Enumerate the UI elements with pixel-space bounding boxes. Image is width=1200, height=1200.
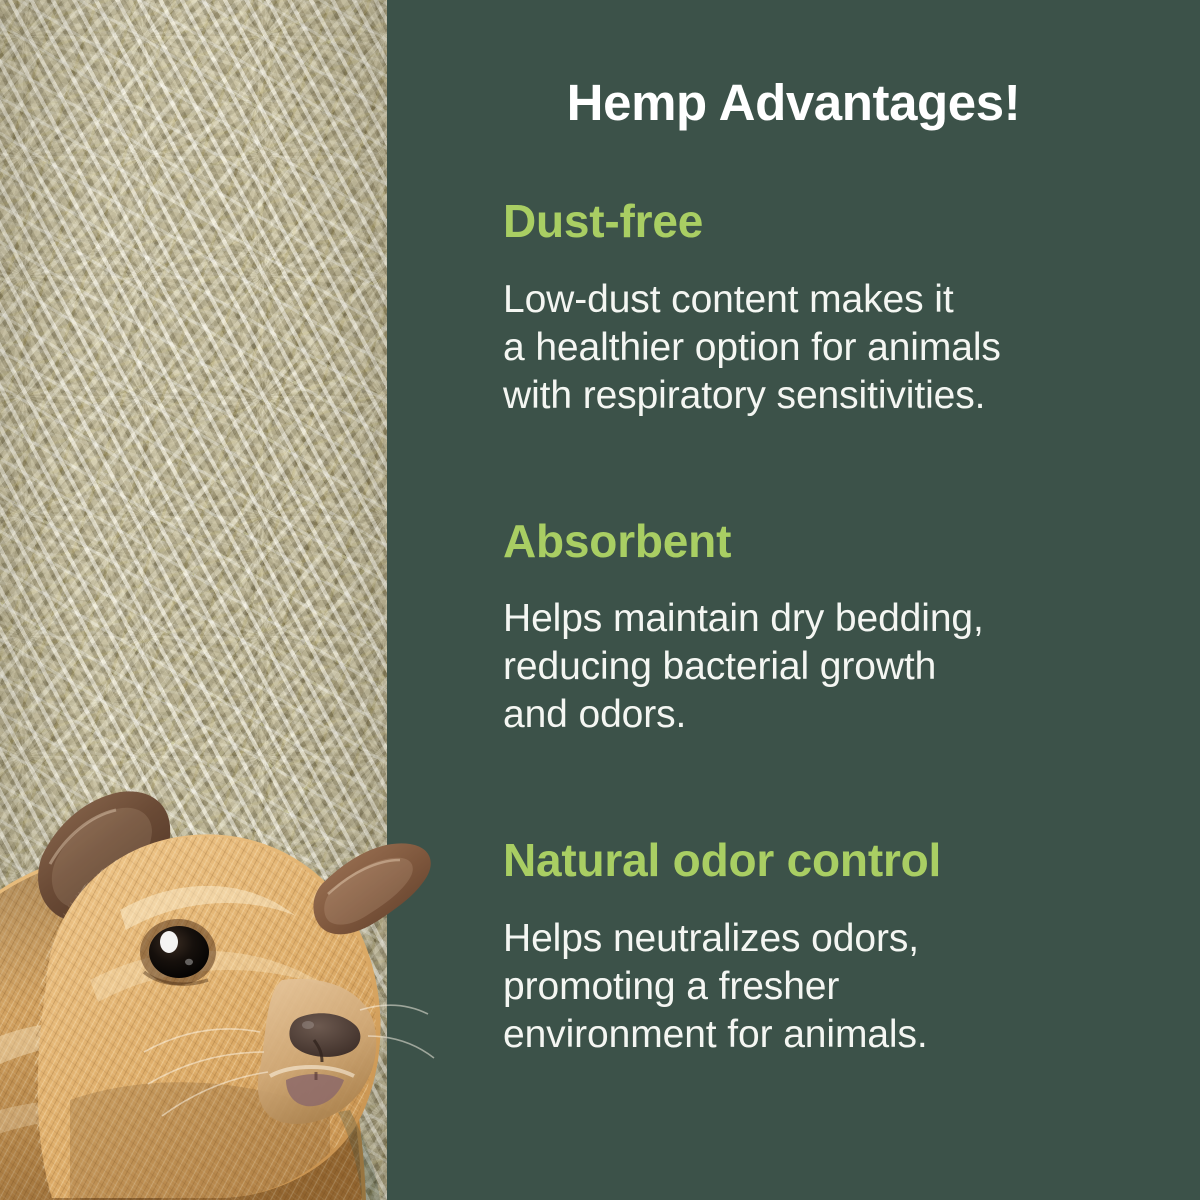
page-title: Hemp Advantages! [387,76,1200,130]
promo-canvas: Hemp Advantages! Dust-free Low-dust cont… [0,0,1200,1200]
advantage-body: Low-dust content makes it a healthier op… [503,276,1163,420]
advantage-body: Helps maintain dry bedding, reducing bac… [503,595,1163,739]
advantage-body: Helps neutralizes odors, promoting a fre… [503,915,1163,1059]
advantage-heading: Natural odor control [503,835,1163,887]
advantages-list: Dust-free Low-dust content makes it a he… [503,196,1163,1059]
advantage-item-natural-odor-control: Natural odor control Helps neutralizes o… [503,835,1163,1059]
advantage-item-dust-free: Dust-free Low-dust content makes it a he… [503,196,1163,420]
hemp-texture-vignette [0,0,387,1200]
advantage-item-absorbent: Absorbent Helps maintain dry bedding, re… [503,516,1163,740]
advantage-heading: Absorbent [503,516,1163,568]
hemp-bedding-photo [0,0,387,1200]
advantage-heading: Dust-free [503,196,1163,248]
advantages-panel: Hemp Advantages! Dust-free Low-dust cont… [387,0,1200,1200]
